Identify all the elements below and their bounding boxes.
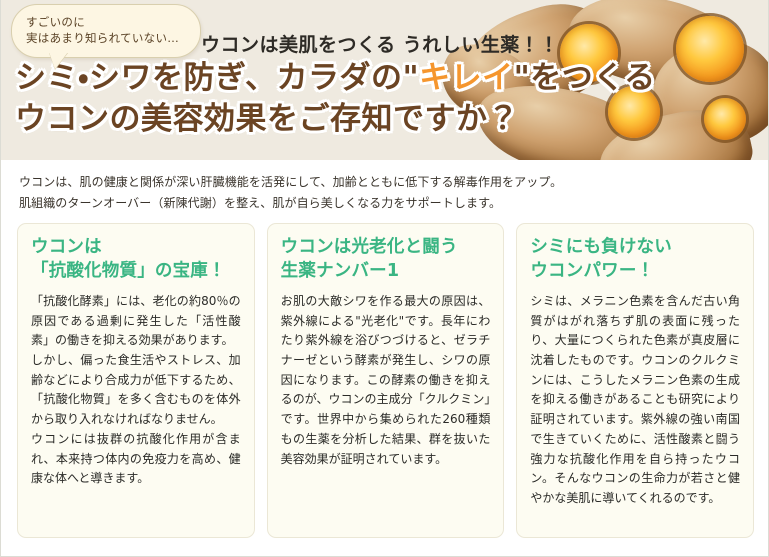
speech-bubble-text: すごいのに 実はあまり知られていない…	[12, 5, 200, 47]
advertisement-page: すごいのに 実はあまり知られていない… ウコンは美肌をつくる うれしい生薬！！ …	[0, 0, 769, 557]
headline-text-before-accent: シミ・シワを防ぎ、カラダの"	[15, 60, 419, 96]
headline-line-2: ウコンの美容効果をご存知ですか？	[15, 99, 656, 140]
card-antioxidant: ウコンは 「抗酸化物質」の宝庫！ 「抗酸化酵素」には、老化の約80％の原因である…	[17, 223, 255, 538]
card-dark-spots: シミにも負けない ウコンパワー！ シミは、メラニン色素を含んだ古い角質がはがれ落…	[516, 223, 754, 538]
card-body: お肌の大敵シワを作る最大の原因は、紫外線による"光老化"です。長年にわたり紫外線…	[281, 292, 491, 469]
content-columns: ウコンは 「抗酸化物質」の宝庫！ 「抗酸化酵素」には、老化の約80％の原因である…	[1, 213, 768, 538]
card-body: シミは、メラニン色素を含んだ古い角質がはがれ落ちず肌の表面に残ったり、大量につく…	[530, 292, 740, 508]
card-title: ウコンは 「抗酸化物質」の宝庫！	[31, 236, 241, 283]
card-title: シミにも負けない ウコンパワー！	[530, 236, 740, 283]
subheading: ウコンは美肌をつくる うれしい生薬！！	[201, 30, 559, 57]
intro-section: ウコンは、肌の健康と関係が深い肝臓機能を活発にして、加齢とともに低下する解毒作用…	[1, 160, 768, 213]
card-photoaging: ウコンは光老化と闘う 生薬ナンバー1 お肌の大敵シワを作る最大の原因は、紫外線に…	[267, 223, 505, 538]
headline-line-1: シミ・シワを防ぎ、カラダの"キレイ"をつくる	[15, 58, 656, 99]
header-banner: すごいのに 実はあまり知られていない… ウコンは美肌をつくる うれしい生薬！！ …	[1, 0, 769, 160]
turmeric-cut-face	[704, 98, 746, 140]
turmeric-root-piece	[648, 35, 769, 153]
speech-bubble: すごいのに 実はあまり知られていない…	[11, 4, 201, 58]
turmeric-cut-face	[676, 16, 744, 82]
main-headline: シミ・シワを防ぎ、カラダの"キレイ"をつくる ウコンの美容効果をご存知ですか？	[15, 58, 656, 140]
headline-text-after-accent: "をつくる	[514, 60, 656, 96]
card-title: ウコンは光老化と闘う 生薬ナンバー1	[281, 236, 491, 283]
intro-paragraph: ウコンは、肌の健康と関係が深い肝臓機能を活発にして、加齢とともに低下する解毒作用…	[19, 172, 752, 213]
card-body: 「抗酸化酵素」には、老化の約80％の原因である過剰に発生した「活性酸素」の働きを…	[31, 292, 241, 489]
headline-accent-kirei: キレイ	[419, 60, 514, 96]
speech-bubble-tail	[49, 52, 68, 69]
